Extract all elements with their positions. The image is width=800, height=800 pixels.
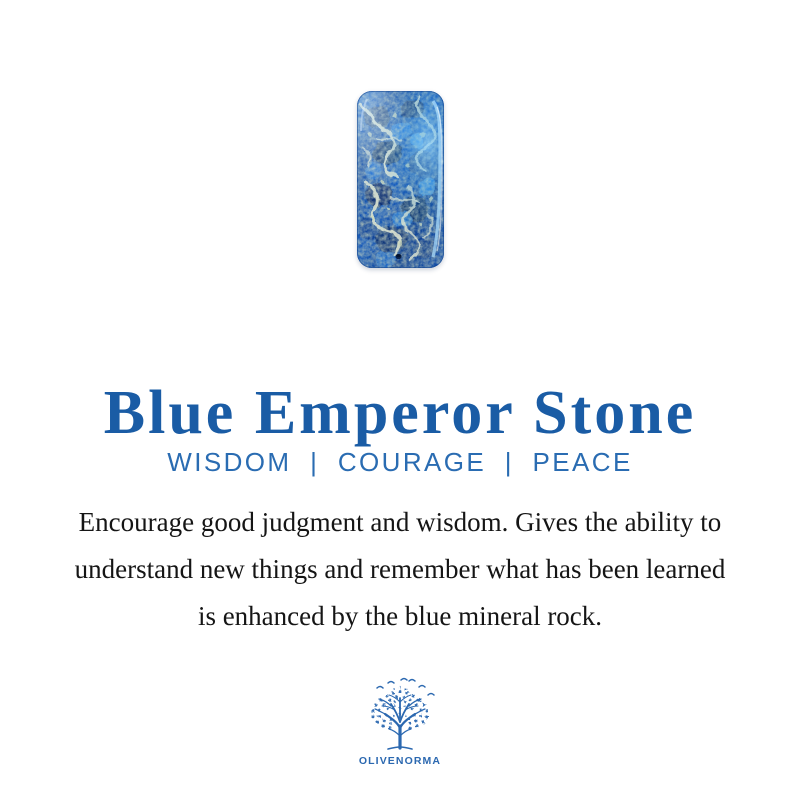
- description-line: is enhanced by the blue mineral rock.: [0, 593, 800, 640]
- brand-wordmark: OLIVENORMA: [357, 755, 443, 768]
- product-info-card: Blue Emperor Stone WISDOM | COURAGE | PE…: [0, 0, 800, 800]
- product-image-area: [0, 0, 800, 300]
- stone-cabochon-image: [357, 91, 444, 268]
- description-line: understand new things and remember what …: [0, 546, 800, 593]
- olive-tree-icon: [357, 676, 443, 754]
- description-line: Encourage good judgment and wisdom. Give…: [0, 499, 800, 546]
- page-title: Blue Emperor Stone: [0, 376, 800, 450]
- keyword-wisdom: WISDOM: [167, 447, 291, 477]
- product-description: Encourage good judgment and wisdom. Give…: [0, 499, 800, 640]
- keyword-line: WISDOM | COURAGE | PEACE: [0, 446, 800, 478]
- stone-texture-graphic: [357, 91, 444, 268]
- brand-logo[interactable]: OLIVENORMA: [357, 676, 443, 776]
- keyword-courage: COURAGE: [338, 447, 486, 477]
- keyword-peace: PEACE: [533, 447, 633, 477]
- keyword-separator: |: [496, 446, 523, 478]
- keyword-separator: |: [301, 446, 328, 478]
